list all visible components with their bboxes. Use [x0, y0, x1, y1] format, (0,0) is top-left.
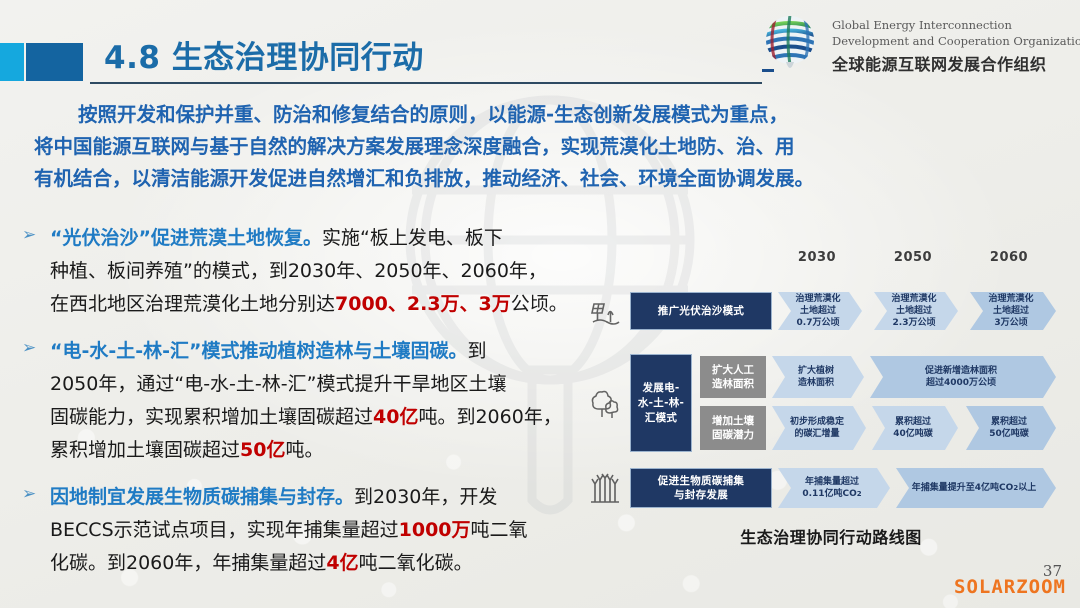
roadmap-row-solar: 推广光伏治沙模式 治理荒漠化土地超过0.7万公顷 治理荒漠化土地超过2.3万公顷… [588, 290, 1074, 340]
slide-header: 4.8 生态治理协同行动 [0, 0, 1080, 92]
bullet-segment: 在西北地区治理荒漠化土地分别达 [50, 293, 335, 315]
solarzoom-watermark: SOLARZOOM [954, 576, 1066, 598]
bullet-segment: 实施“板上发电、板下 [322, 227, 503, 249]
bullet-item: ➢“电-水-土-林-汇”模式推动植树造林与土壤固碳。到2050年，通过“电-水-… [18, 335, 618, 467]
roadmap-step: 初步形成稳定的碳汇增量 [772, 406, 866, 450]
bullet-line: 在西北地区治理荒漠化土地分别达7000、2.3万、3万公顷。 [50, 288, 618, 321]
intro-line-2: 将中国能源互联网与基于自然的解决方案发展理念深度融合，实现荒漠化土地防、治、用 [34, 131, 1050, 163]
year-label-2030: 2030 [778, 250, 856, 265]
bullet-item: ➢“光伏治沙”促进荒漠土地恢复。实施“板上发电、板下种植、板间养殖”的模式，到2… [18, 222, 618, 321]
roadmap-sub-box: 增加土壤固碳潜力 [700, 406, 766, 450]
bullet-segment: 化碳。到2060年，年捕集量超过 [50, 552, 326, 574]
bullet-list: ➢“光伏治沙”促进荒漠土地恢复。实施“板上发电、板下种植、板间养殖”的模式，到2… [18, 222, 618, 594]
grass-biomass-icon [588, 472, 622, 506]
bullet-segment: 吨。到2060年， [418, 406, 561, 428]
solar-panel-desert-icon [588, 298, 622, 332]
bullet-segment: 种植、板间养殖”的模式，到2030年、2050年、2060年， [50, 260, 547, 282]
roadmap-step: 治理荒漠化土地超过2.3万公顷 [874, 292, 958, 330]
bullet-segment: 2050年，通过“电-水-土-林-汇”模式提升干旱地区土壤 [50, 373, 506, 395]
diagram-caption: 生态治理协同行动路线图 [588, 524, 1074, 548]
organization-logo: Global Energy Interconnection Developmen… [762, 12, 1070, 80]
year-label-2060: 2060 [970, 250, 1048, 265]
intro-line-1: 按照开发和保护并重、防治和修复结合的原则，以能源-生态创新发展模式为重点， [34, 99, 1050, 131]
intro-line-3: 有机结合，以清洁能源开发促进自然增汇和负排放，推动经济、社会、环境全面协调发展。 [34, 163, 1050, 195]
intro-paragraph: 按照开发和保护并重、防治和修复结合的原则，以能源-生态创新发展模式为重点， 将中… [34, 99, 1050, 195]
bullet-segment: 公顷。 [511, 293, 568, 315]
bullet-line: BECCS示范试点项目，实现年捕集量超过1000万吨二氧 [50, 514, 618, 547]
slide-canvas: 4.8 生态治理协同行动 [0, 0, 1080, 608]
roadmap-step: 扩大植树造林面积 [772, 356, 864, 398]
highlighted-figure: 50亿 [240, 439, 285, 461]
bullet-segment: BECCS示范试点项目，实现年捕集量超过 [50, 519, 399, 541]
roadmap-step: 年捕集量超过0.11亿吨CO2 [778, 468, 890, 508]
bullet-segment: 吨二氧 [471, 519, 528, 541]
page-title: 4.8 生态治理协同行动 [104, 32, 424, 77]
bullet-segment: 吨二氧化碳。 [359, 552, 473, 574]
highlighted-figure: 40亿 [373, 406, 418, 428]
roadmap-step: 累积超过40亿吨碳 [872, 406, 958, 450]
roadmap-main-box-beccs: 促进生物质碳捕集与封存发展 [630, 468, 772, 508]
roadmap-step: 促进新增造林面积超过4000万公顷 [870, 356, 1056, 398]
header-accent-square-cyan [0, 43, 24, 81]
roadmap-step: 治理荒漠化土地超过3万公顷 [970, 292, 1056, 330]
bullet-line: 化碳。到2060年，年捕集量超过4亿吨二氧化碳。 [50, 547, 618, 580]
highlighted-figure: 7000、2.3万、3万 [335, 293, 511, 315]
logo-text-en-line2: Development and Cooperation Organization [832, 34, 1080, 48]
roadmap-step: 累积超过50亿吨碳 [966, 406, 1056, 450]
bullet-segment: 到 [468, 340, 487, 362]
roadmap-main-box-forest: 发展电-水-土-林-汇模式 [630, 354, 692, 452]
bullet-text: “电-水-土-林-汇”模式推动植树造林与土壤固碳。到2050年，通过“电-水-土… [18, 335, 618, 467]
header-accent-square-blue [26, 43, 83, 81]
bullet-marker-icon: ➢ [22, 226, 38, 244]
bullet-marker-icon: ➢ [22, 339, 38, 357]
logo-text-cn: 全球能源互联网发展合作组织 [832, 51, 1047, 75]
bullet-lead: “光伏治沙”促进荒漠土地恢复。 [50, 227, 322, 249]
bullet-segment: 累积增加土壤固碳超过 [50, 439, 240, 461]
bullet-item: ➢因地制宜发展生物质碳捕集与封存。到2030年，开发BECCS示范试点项目，实现… [18, 481, 618, 580]
logo-text-en-line1: Global Energy Interconnection [832, 18, 1012, 32]
bullet-text: “光伏治沙”促进荒漠土地恢复。实施“板上发电、板下种植、板间养殖”的模式，到20… [18, 222, 618, 321]
roadmap-step: 年捕集量提升至4亿吨CO2以上 [896, 468, 1056, 508]
bullet-segment: 吨。 [285, 439, 323, 461]
bullet-segment: 固碳能力，实现累积增加土壤固碳超过 [50, 406, 373, 428]
bullet-line: 2050年，通过“电-水-土-林-汇”模式提升干旱地区土壤 [50, 368, 618, 401]
roadmap-diagram: 2030 2050 2060 推广光伏治沙模式 治理荒漠化土地超过0.7万公顷 [588, 248, 1074, 548]
bullet-line: 因地制宜发展生物质碳捕集与封存。到2030年，开发 [50, 481, 618, 514]
bullet-marker-icon: ➢ [22, 485, 38, 503]
year-axis: 2030 2050 2060 [588, 248, 1074, 278]
bullet-line: 种植、板间养殖”的模式，到2030年、2050年、2060年， [50, 255, 618, 288]
roadmap-row-forest: 发展电-水-土-林-汇模式 扩大人工造林面积 扩大植树造林面积 促进新增造林面积… [588, 352, 1074, 456]
bullet-text: 因地制宜发展生物质碳捕集与封存。到2030年，开发BECCS示范试点项目，实现年… [18, 481, 618, 580]
bullet-line: “光伏治沙”促进荒漠土地恢复。实施“板上发电、板下 [50, 222, 618, 255]
geidco-globe-icon [762, 14, 824, 76]
title-underline [90, 82, 762, 84]
bullet-line: “电-水-土-林-汇”模式推动植树造林与土壤固碳。到 [50, 335, 618, 368]
roadmap-main-box-solar: 推广光伏治沙模式 [630, 292, 772, 330]
roadmap-sub-box: 扩大人工造林面积 [700, 356, 766, 398]
bullet-line: 累积增加土壤固碳超过50亿吨。 [50, 434, 618, 467]
bullet-lead: “电-水-土-林-汇”模式推动植树造林与土壤固碳。 [50, 340, 468, 362]
year-label-2050: 2050 [874, 250, 952, 265]
roadmap-row-beccs: 促进生物质碳捕集与封存发展 年捕集量超过0.11亿吨CO2 年捕集量提升至4亿吨… [588, 466, 1074, 512]
bullet-line: 固碳能力，实现累积增加土壤固碳超过40亿吨。到2060年， [50, 401, 618, 434]
bullet-segment: 到2030年，开发 [354, 486, 497, 508]
trees-icon [588, 387, 622, 421]
roadmap-step: 治理荒漠化土地超过0.7万公顷 [778, 292, 862, 330]
highlighted-figure: 4亿 [326, 552, 358, 574]
bullet-lead: 因地制宜发展生物质碳捕集与封存。 [50, 486, 354, 508]
highlighted-figure: 1000万 [399, 519, 471, 541]
